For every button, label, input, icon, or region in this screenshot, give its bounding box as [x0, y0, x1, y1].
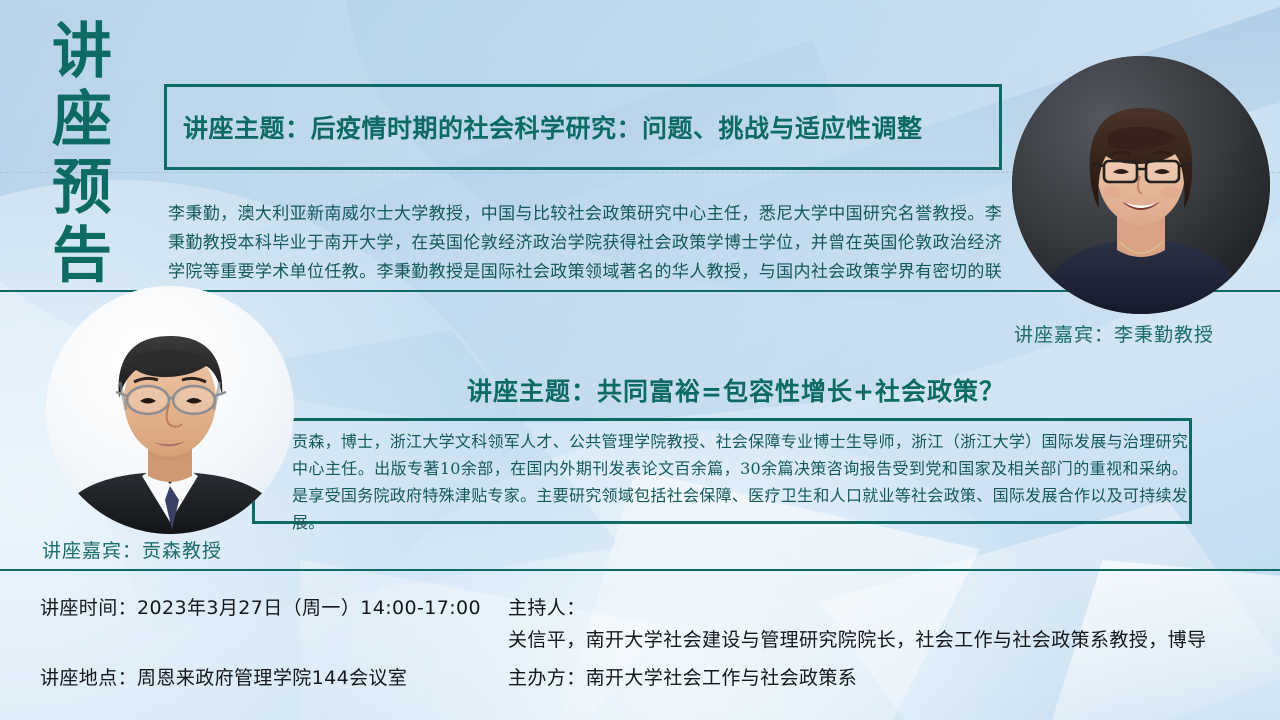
footer-time-value: 2023年3月27日（周一）14:00-17:00	[137, 597, 481, 619]
footer-place-value: 周恩来政府管理学院144会议室	[137, 667, 407, 689]
lecture-2-speaker-caption: 讲座嘉宾：贡森教授	[42, 536, 222, 563]
lecture-1-title-box: 讲座主题：后疫情时期的社会科学研究：问题、挑战与适应性调整	[164, 84, 1002, 170]
speaker-2-portrait	[46, 286, 294, 534]
vertical-title-char-3: 预	[28, 154, 138, 222]
footer-organizer-label: 主办方：	[508, 667, 586, 689]
footer-time-cell: 讲座时间：2023年3月27日（周一）14:00-17:00	[0, 592, 508, 656]
footer-place-label: 讲座地点：	[40, 667, 137, 689]
footer-row-1: 讲座时间：2023年3月27日（周一）14:00-17:00 主持人：关信平，南…	[0, 592, 1280, 656]
footer-host-cell: 主持人：关信平，南开大学社会建设与管理研究院院长，社会工作与社会政策系教授，博导	[508, 592, 1280, 656]
speaker-1-portrait-illustration	[1012, 56, 1270, 314]
footer-organizer-value: 南开大学社会工作与社会政策系	[586, 667, 858, 689]
speaker-1-portrait	[1012, 56, 1270, 314]
lecture-2-title: 讲座主题：共同富裕=包容性增长+社会政策？	[280, 372, 1192, 408]
footer-place-cell: 讲座地点：周恩来政府管理学院144会议室	[0, 662, 508, 694]
footer-host-label: 主持人：	[508, 597, 586, 619]
footer-time-label: 讲座时间：	[40, 597, 137, 619]
lecture-2-speaker-bio: 贡森，博士，浙江大学文科领军人才、公共管理学院教授、社会保障专业博士生导师，浙江…	[292, 428, 1188, 536]
footer-row-2: 讲座地点：周恩来政府管理学院144会议室 主办方：南开大学社会工作与社会政策系	[0, 662, 1280, 694]
vertical-title-char-1: 讲	[28, 18, 138, 86]
vertical-title-char-4: 告	[28, 222, 138, 290]
section-divider-lower	[0, 569, 1280, 571]
speaker-2-portrait-illustration	[46, 286, 294, 534]
footer-organizer-cell: 主办方：南开大学社会工作与社会政策系	[508, 662, 1280, 694]
lecture-poster: 讲 座 预 告 讲座主题：后疫情时期的社会科学研究：问题、挑战与适应性调整 李秉…	[0, 0, 1280, 720]
poster-footer: 讲座时间：2023年3月27日（周一）14:00-17:00 主持人：关信平，南…	[0, 592, 1280, 700]
lecture-1-speaker-bio: 李秉勤，澳大利亚新南威尔士大学教授，中国与比较社会政策研究中心主任，悉尼大学中国…	[168, 200, 1002, 316]
lecture-1-title: 讲座主题：后疫情时期的社会科学研究：问题、挑战与适应性调整	[167, 109, 923, 145]
poster-vertical-title: 讲 座 预 告	[28, 18, 138, 290]
vertical-title-char-2: 座	[28, 86, 138, 154]
lecture-1-speaker-caption: 讲座嘉宾：李秉勤教授	[1014, 320, 1214, 347]
footer-host-value: 关信平，南开大学社会建设与管理研究院院长，社会工作与社会政策系教授，博导	[508, 629, 1206, 651]
